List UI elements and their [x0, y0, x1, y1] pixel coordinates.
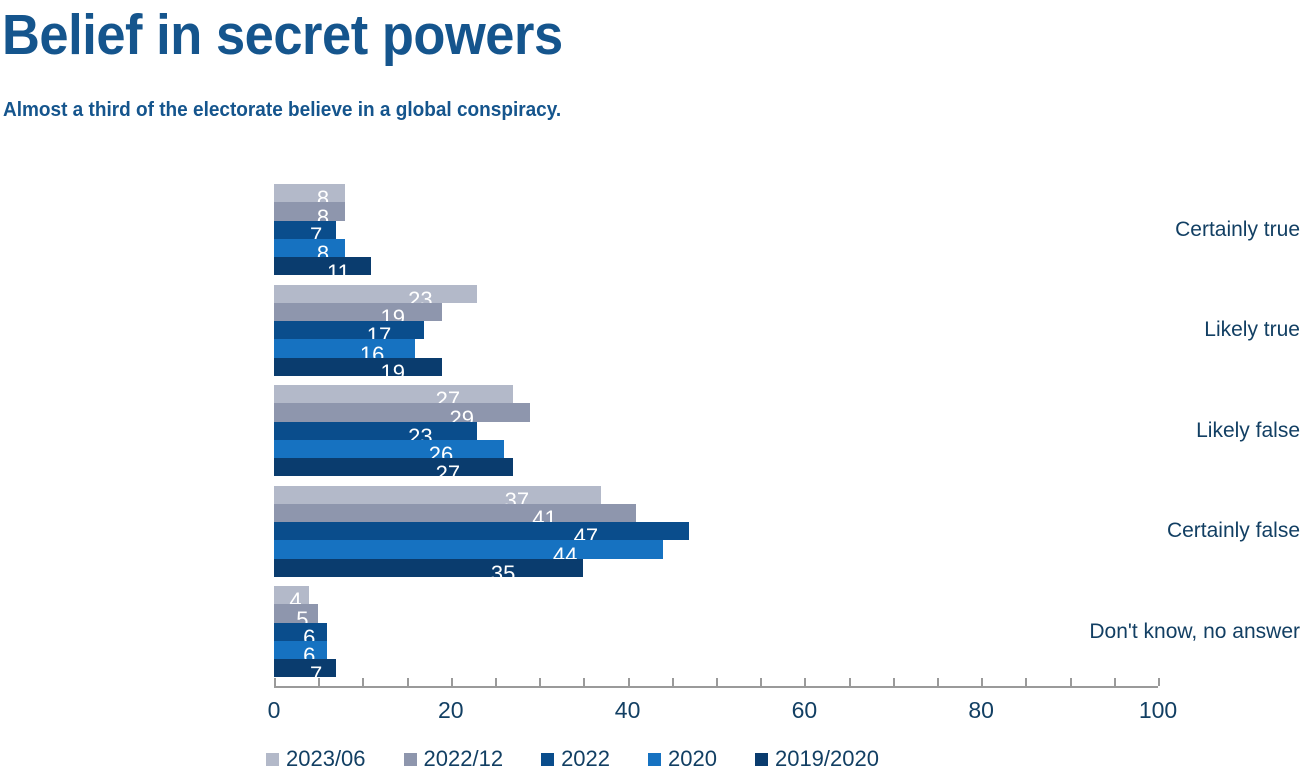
- legend-item-2022-12[interactable]: 2022/12: [404, 746, 504, 772]
- bar-1-0[interactable]: [274, 202, 345, 220]
- x-axis-tick: [760, 678, 762, 686]
- x-axis-tick: [716, 678, 718, 686]
- bar-4-4[interactable]: [274, 659, 336, 677]
- x-axis-tick: [804, 678, 806, 686]
- x-axis-tick: [495, 678, 497, 686]
- bar-3-2[interactable]: [274, 440, 504, 458]
- bar-3-1[interactable]: [274, 339, 415, 357]
- x-axis-tick: [318, 678, 320, 686]
- bar-1-2[interactable]: [274, 403, 530, 421]
- category-label: Don't know, no answer: [1040, 620, 1300, 644]
- bar-0-0[interactable]: [274, 184, 345, 202]
- x-axis-tick: [1025, 678, 1027, 686]
- x-axis-tick-label: 40: [615, 697, 641, 724]
- legend-swatch-icon: [404, 753, 417, 766]
- legend-swatch-icon: [541, 753, 554, 766]
- legend-label: 2023/06: [286, 746, 366, 772]
- x-axis-tick-label: 20: [438, 697, 464, 724]
- x-axis-tick: [539, 678, 541, 686]
- x-axis-tick: [451, 678, 453, 686]
- bar-0-2[interactable]: [274, 385, 513, 403]
- bar-3-4[interactable]: [274, 641, 327, 659]
- category-label: Likely true: [1040, 318, 1300, 342]
- x-axis-tick: [893, 678, 895, 686]
- legend-label: 2019/2020: [775, 746, 879, 772]
- x-axis-tick: [1158, 678, 1160, 686]
- x-axis-tick-label: 0: [268, 697, 281, 724]
- bar-2-0[interactable]: [274, 221, 336, 239]
- bar-2-1[interactable]: [274, 321, 424, 339]
- category-label: Likely false: [1040, 419, 1300, 443]
- bar-4-2[interactable]: [274, 458, 513, 476]
- legend-item-2020[interactable]: 2020: [648, 746, 717, 772]
- legend-item-2023-06[interactable]: 2023/06: [266, 746, 366, 772]
- chart-page: Belief in secret powers Almost a third o…: [0, 0, 1300, 777]
- category-label: Certainly false: [1040, 519, 1300, 543]
- legend-swatch-icon: [755, 753, 768, 766]
- bar-0-3[interactable]: [274, 486, 601, 504]
- x-axis-tick-label: 80: [968, 697, 994, 724]
- x-axis-tick: [672, 678, 674, 686]
- bar-2-2[interactable]: [274, 422, 477, 440]
- bar-3-3[interactable]: [274, 540, 663, 558]
- bar-3-0[interactable]: [274, 239, 345, 257]
- category-label: Certainly true: [1040, 218, 1300, 242]
- legend-label: 2022/12: [424, 746, 504, 772]
- bar-4-0[interactable]: [274, 257, 371, 275]
- x-axis-line: [274, 686, 1158, 688]
- x-axis-tick: [362, 678, 364, 686]
- legend-item-2022[interactable]: 2022: [541, 746, 610, 772]
- bar-1-1[interactable]: [274, 303, 442, 321]
- chart-legend: 2023/062022/12202220202019/2020: [266, 746, 879, 772]
- bar-0-1[interactable]: [274, 285, 477, 303]
- x-axis-tick: [981, 678, 983, 686]
- bar-2-3[interactable]: [274, 522, 689, 540]
- x-axis-tick: [628, 678, 630, 686]
- bar-4-1[interactable]: [274, 358, 442, 376]
- legend-item-2019-2020[interactable]: 2019/2020: [755, 746, 879, 772]
- bar-2-4[interactable]: [274, 623, 327, 641]
- x-axis-tick: [274, 678, 276, 686]
- legend-swatch-icon: [266, 753, 279, 766]
- x-axis-tick: [937, 678, 939, 686]
- x-axis-tick: [1070, 678, 1072, 686]
- bar-4-3[interactable]: [274, 559, 583, 577]
- bar-1-4[interactable]: [274, 604, 318, 622]
- x-axis-tick: [407, 678, 409, 686]
- bar-chart-plot: Certainly true887811Likely true231917161…: [0, 0, 1300, 777]
- x-axis-tick-label: 60: [792, 697, 818, 724]
- bar-1-3[interactable]: [274, 504, 636, 522]
- legend-label: 2020: [668, 746, 717, 772]
- x-axis-tick: [849, 678, 851, 686]
- x-axis-tick: [583, 678, 585, 686]
- bar-0-4[interactable]: [274, 586, 309, 604]
- x-axis-tick-label: 100: [1139, 697, 1177, 724]
- legend-label: 2022: [561, 746, 610, 772]
- legend-swatch-icon: [648, 753, 661, 766]
- x-axis-tick: [1114, 678, 1116, 686]
